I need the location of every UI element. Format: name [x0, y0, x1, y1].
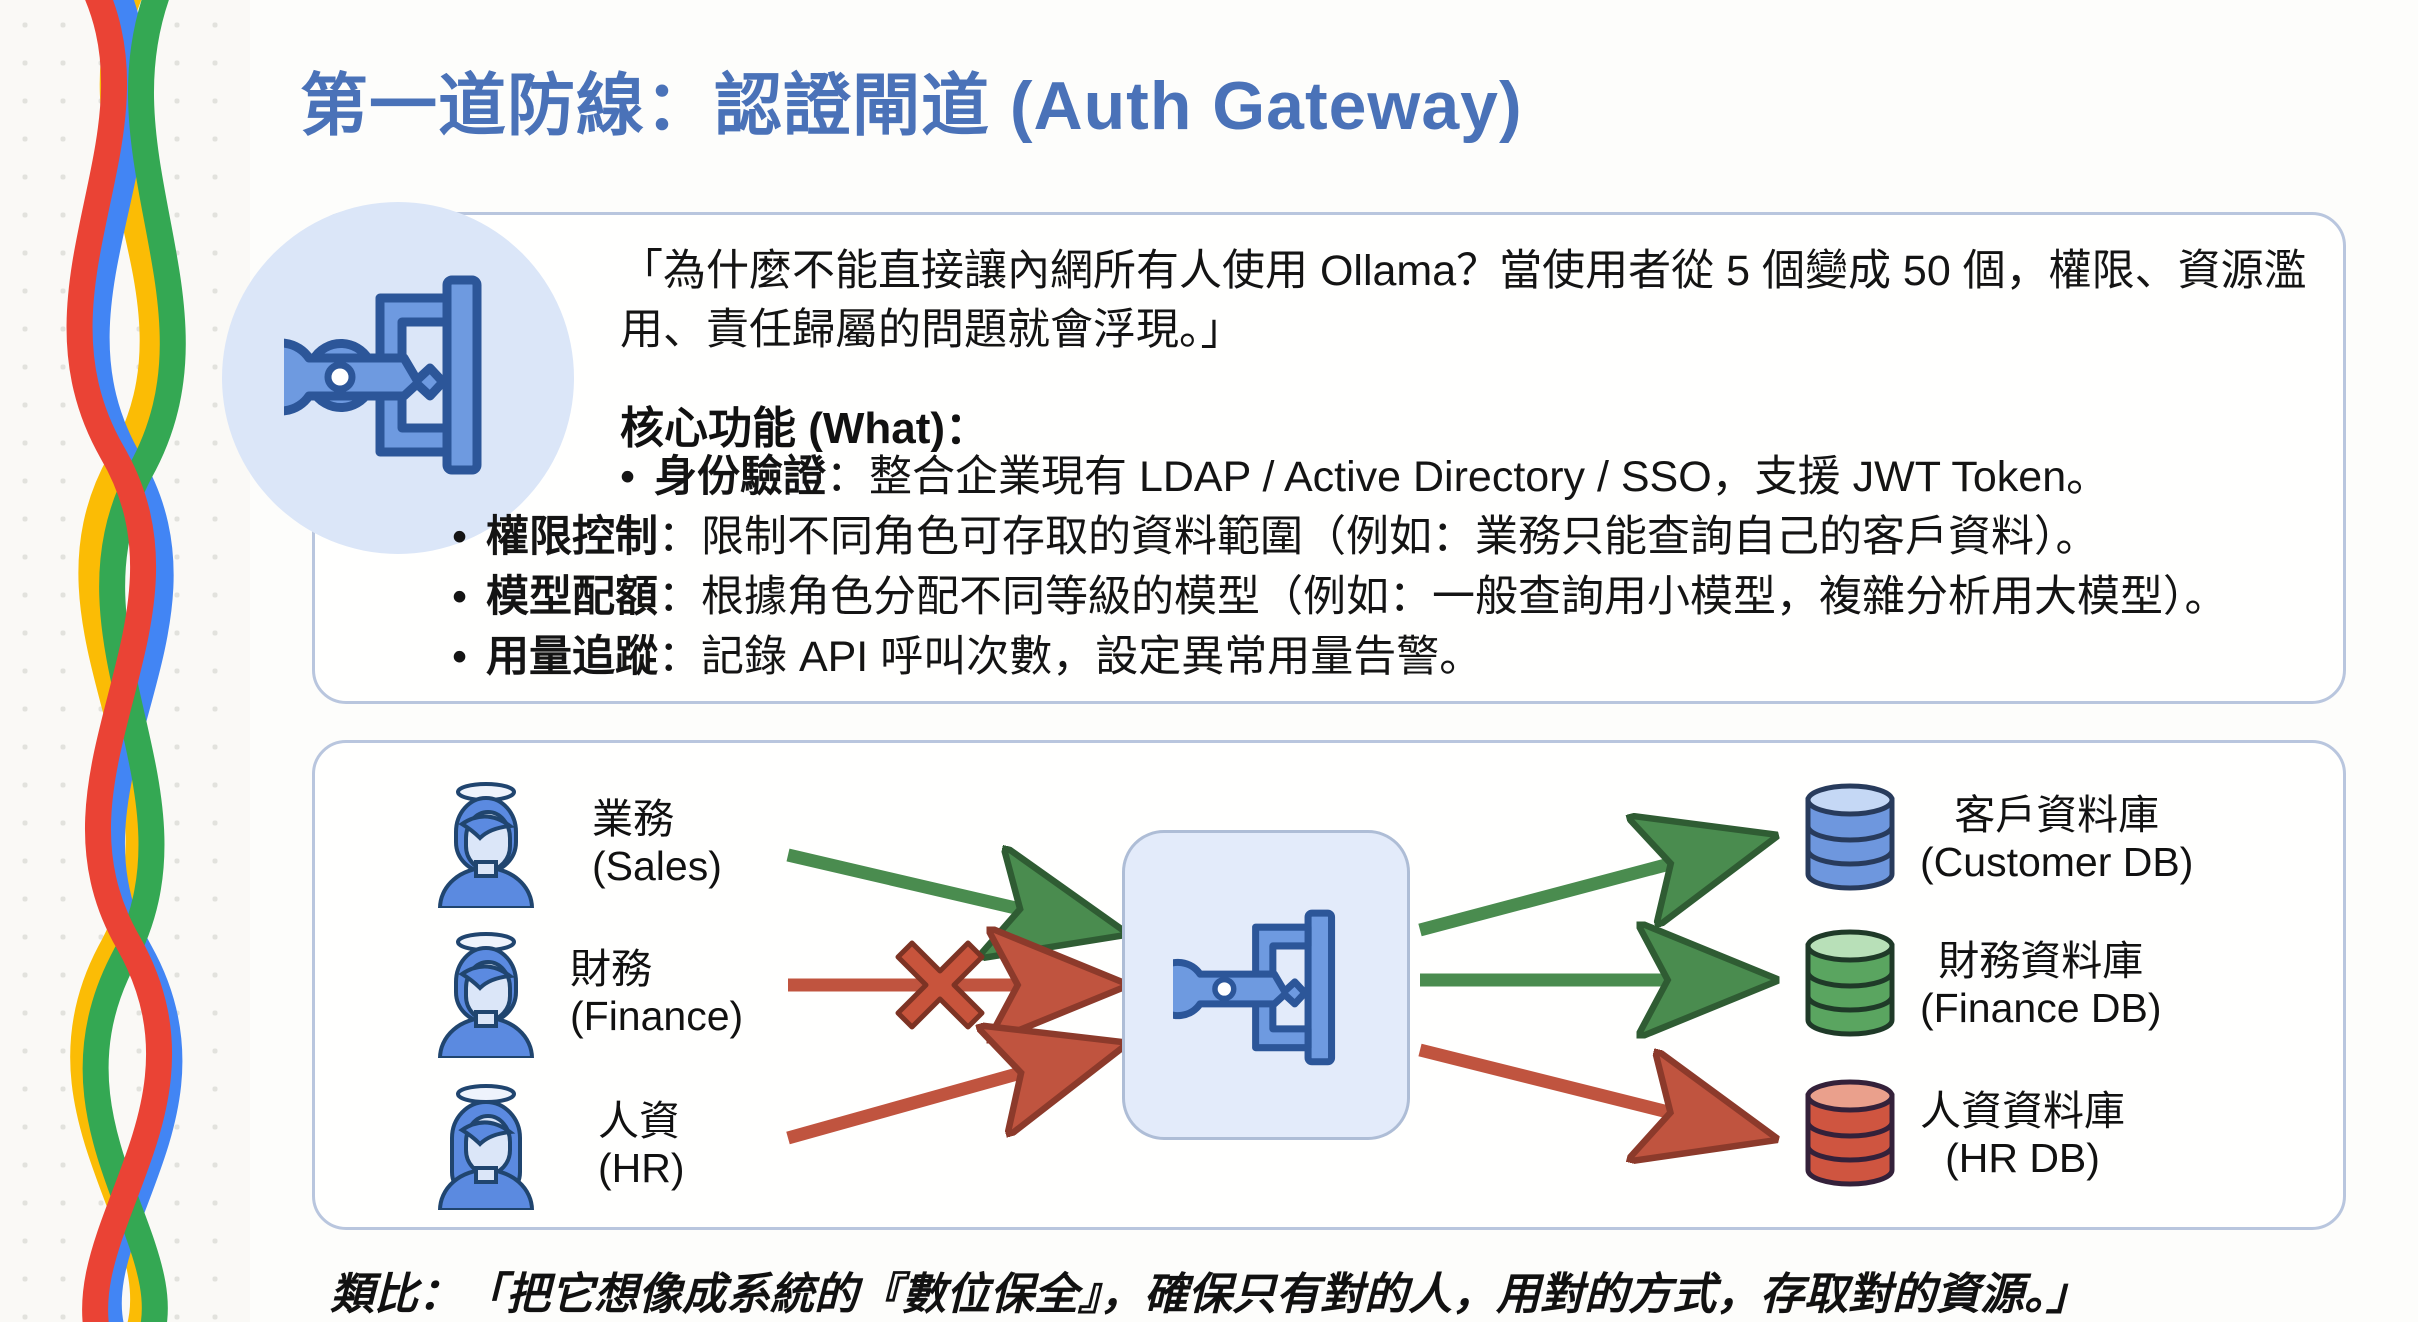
db-label-en: (Customer DB): [1920, 839, 2193, 886]
person-icon: [432, 780, 540, 908]
analogy-text: 類比：「把它想像成系統的『數位保全』，確保只有對的人，用對的方式，存取對的資源。…: [330, 1258, 2090, 1322]
auth-gateway-node: [1122, 830, 1410, 1140]
role-label-hr: 人資 (HR): [598, 1098, 685, 1192]
db-label-zh: 客戶資料庫: [1920, 792, 2193, 839]
db-label-customer: 客戶資料庫 (Customer DB): [1920, 792, 2193, 886]
db-label-hr: 人資資料庫 (HR DB): [1920, 1088, 2125, 1182]
db-label-zh: 人資資料庫: [1920, 1088, 2125, 1135]
role-label-en: (HR): [598, 1145, 685, 1192]
person-icon: [432, 930, 540, 1058]
role-label-en: (Sales): [592, 843, 722, 890]
database-icon: [1802, 1078, 1898, 1188]
db-label-zh: 財務資料庫: [1920, 938, 2162, 985]
flow-gateway-to-customer-db: [1420, 840, 1760, 930]
flow-gateway-to-hr-db: [1420, 1050, 1760, 1135]
db-label-finance: 財務資料庫 (Finance DB): [1920, 938, 2162, 1032]
database-icon: [1802, 928, 1898, 1038]
key-gateway-icon: [1173, 899, 1368, 1079]
role-label-zh: 財務: [570, 946, 743, 993]
flow-hr-to-gateway: [788, 1048, 1110, 1138]
role-label-sales: 業務 (Sales): [592, 796, 722, 890]
person-icon: [432, 1082, 540, 1210]
db-label-en: (HR DB): [1920, 1135, 2125, 1182]
role-label-zh: 業務: [592, 796, 722, 843]
role-label-finance: 財務 (Finance): [570, 946, 743, 1040]
flow-sales-to-gateway: [788, 855, 1110, 930]
role-label-zh: 人資: [598, 1098, 685, 1145]
role-label-en: (Finance): [570, 993, 743, 1040]
database-icon: [1802, 782, 1898, 892]
db-label-en: (Finance DB): [1920, 985, 2162, 1032]
